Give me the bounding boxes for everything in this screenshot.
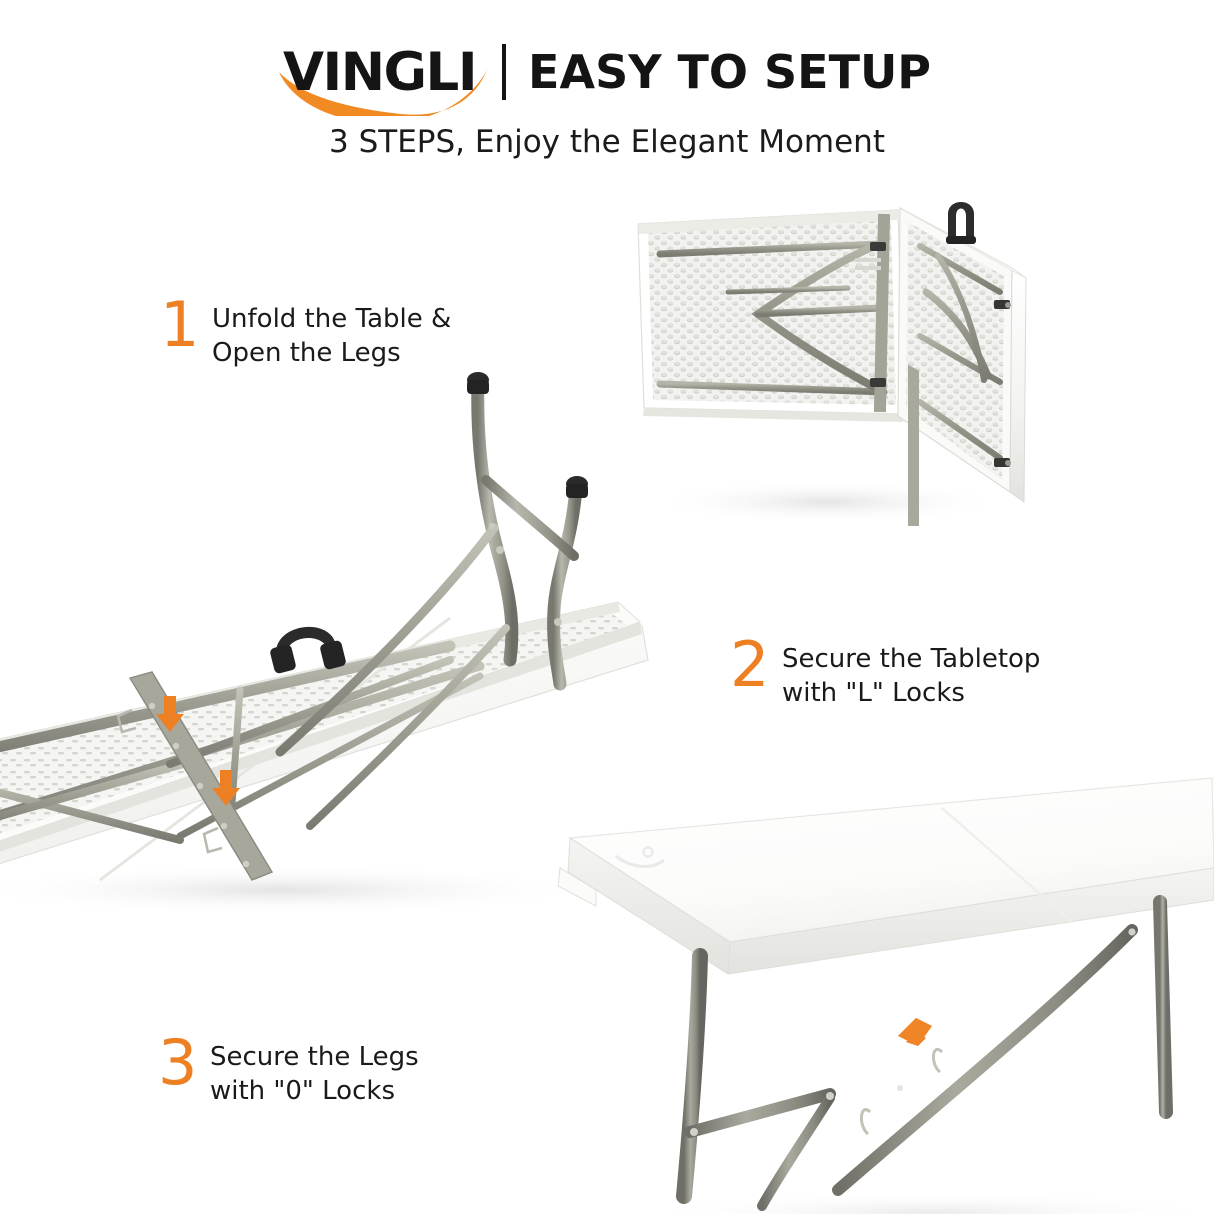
step-2: 2 Secure the Tabletop with "L" Locks: [730, 636, 1040, 711]
carry-handle: [269, 627, 347, 674]
logo-g-knockout: [399, 68, 414, 81]
shadow: [632, 1192, 1214, 1214]
orange-arrow-zero-lock: [898, 1018, 932, 1046]
headline: EASY TO SETUP: [528, 49, 931, 95]
step-1-text: Unfold the Table & Open the Legs: [212, 296, 451, 371]
shadow: [648, 480, 1008, 524]
step-3: 3 Secure the Legs with "0" Locks: [158, 1034, 419, 1109]
step-1-number: 1: [160, 296, 212, 353]
photo-setup-table: [512, 760, 1214, 1214]
folded-right-panel: [898, 208, 1026, 526]
carry-handle: [946, 202, 976, 244]
header-divider: [502, 44, 506, 100]
header: VINGLI EASY TO SETUP 3 STEPS, Enjoy the …: [0, 0, 1214, 180]
photo-folded-table: [608, 196, 1060, 526]
shadow: [0, 864, 600, 916]
brace-rivet: [897, 1085, 903, 1091]
step-3-number: 3: [158, 1034, 210, 1091]
step-2-number: 2: [730, 636, 782, 693]
step-3-text: Secure the Legs with "0" Locks: [210, 1034, 419, 1109]
step-2-text: Secure the Tabletop with "L" Locks: [782, 636, 1040, 711]
folded-left-panel: [638, 210, 904, 422]
title-row: VINGLI EASY TO SETUP: [0, 36, 1214, 108]
subtitle: 3 STEPS, Enjoy the Elegant Moment: [0, 124, 1214, 160]
brand-name: VINGLI: [283, 42, 476, 103]
zero-lock-clips: [861, 1049, 942, 1134]
brand-logo: VINGLI: [283, 46, 482, 99]
infographic-page: VINGLI EASY TO SETUP 3 STEPS, Enjoy the …: [0, 0, 1214, 1214]
step-1: 1 Unfold the Table & Open the Legs: [160, 296, 451, 371]
